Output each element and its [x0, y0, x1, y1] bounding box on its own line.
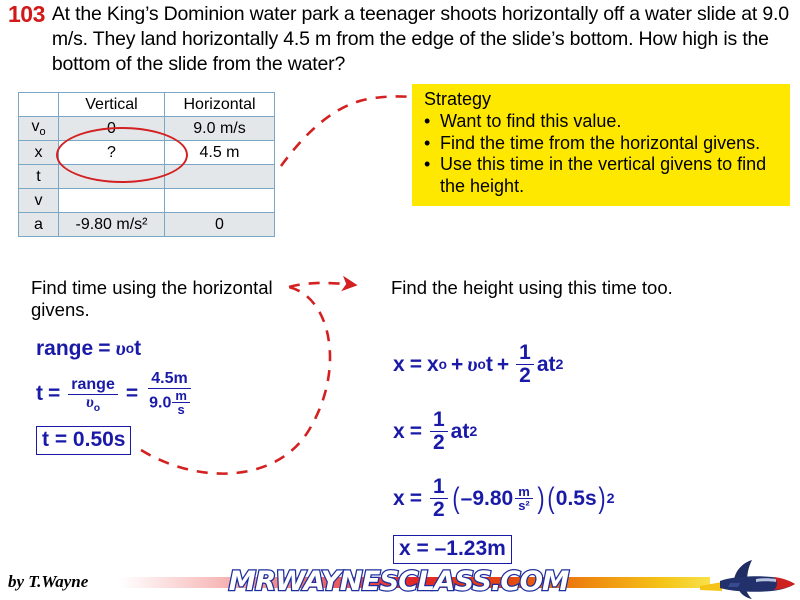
cell-t-horizontal — [165, 165, 275, 189]
equals-sign: = — [410, 487, 422, 511]
left-math-block: range = υo t t = range υo = 4.5m 9.0ms t… — [36, 336, 326, 455]
row-label-a: a — [19, 213, 59, 237]
strategy-item-label: Find the time from the horizontal givens… — [440, 133, 782, 155]
t-symbol: t — [134, 337, 141, 361]
rocket-icon — [700, 558, 798, 600]
cell-a-vertical: -9.80 m/s² — [59, 213, 165, 237]
t-symbol: t — [36, 382, 43, 406]
equation-kinematic-general: x = xo + υot + 1 2 at2 — [393, 342, 723, 387]
unit-m-per-s2: m s² — [515, 485, 533, 513]
fraction-denominator: 9.0ms — [146, 389, 193, 417]
table-header-vertical: Vertical — [59, 93, 165, 117]
bullet-icon: • — [424, 154, 440, 176]
strategy-box: Strategy • Want to find this value. • Fi… — [412, 84, 790, 206]
x0-symbol: x — [427, 353, 439, 377]
strategy-item: • Want to find this value. — [424, 111, 782, 133]
range-label: range — [36, 337, 93, 361]
at-term: at — [451, 420, 470, 444]
strategy-item-label: Want to find this value. — [440, 111, 782, 133]
bullet-icon: • — [424, 133, 440, 155]
right-math-block: x = xo + υot + 1 2 at2 x = 1 2 at2 x = 1… — [393, 342, 723, 564]
paren-close: ) — [537, 486, 544, 512]
row-label-x: x — [19, 141, 59, 165]
table-row: v — [19, 189, 275, 213]
row-label-t: t — [19, 165, 59, 189]
fraction-numerator: 4.5m — [148, 371, 190, 389]
equation-range: range = υo t — [36, 336, 326, 361]
cell-t-vertical — [59, 165, 165, 189]
problem-number: 103 — [8, 2, 45, 27]
strategy-title: Strategy — [424, 89, 782, 110]
table-header-horizontal: Horizontal — [165, 93, 275, 117]
table-row: vo 0 9.0 m/s — [19, 117, 275, 141]
footer-author: by T.Wayne — [8, 572, 88, 592]
strategy-item: • Use this time in the vertical givens t… — [424, 154, 782, 197]
x-symbol: x — [393, 353, 405, 377]
kinematics-table: Vertical Horizontal vo 0 9.0 m/s x ? 4.5… — [18, 92, 275, 237]
equals-sign: = — [48, 382, 60, 406]
cell-v-horizontal — [165, 189, 275, 213]
answer-time-row: t = 0.50s — [36, 426, 326, 455]
equals-sign: = — [126, 382, 138, 406]
paren-open: ( — [547, 486, 554, 512]
table-row: x ? 4.5 m — [19, 141, 275, 165]
cell-v-vertical — [59, 189, 165, 213]
row-label-vo: vo — [19, 117, 59, 141]
fraction-one-half: 1 2 — [430, 476, 448, 521]
fraction-denominator: υo — [83, 395, 103, 412]
strategy-item-label: Use this time in the vertical givens to … — [440, 154, 782, 197]
paren-close: ) — [598, 486, 605, 512]
time-value: 0.5s — [556, 487, 597, 511]
fraction-one-half: 1 2 — [430, 409, 448, 454]
table-header-row: Vertical Horizontal — [19, 93, 275, 117]
equals-sign: = — [98, 337, 110, 361]
plus-sign: + — [451, 353, 463, 377]
right-section-caption: Find the height using this time too. — [391, 277, 721, 299]
v-symbol: υ — [115, 336, 125, 361]
cell-x-horizontal: 4.5 m — [165, 141, 275, 165]
problem-statement: At the King’s Dominion water park a teen… — [52, 2, 800, 77]
acceleration-value: –9.80 — [461, 487, 514, 511]
equation-simplified: x = 1 2 at2 — [393, 409, 723, 454]
x-symbol: x — [393, 487, 405, 511]
answer-box-time: t = 0.50s — [36, 426, 131, 455]
equation-solve-time: t = range υo = 4.5m 9.0ms — [36, 371, 326, 417]
plus-sign: + — [497, 353, 509, 377]
at-term: at — [537, 353, 556, 377]
cell-x-vertical: ? — [59, 141, 165, 165]
equals-sign: = — [410, 420, 422, 444]
table-header-blank — [19, 93, 59, 117]
v-symbol: υ — [467, 352, 477, 377]
fraction-range-over-v: range υo — [68, 377, 118, 412]
cell-a-horizontal: 0 — [165, 213, 275, 237]
cell-vo-vertical: 0 — [59, 117, 165, 141]
table-row: t — [19, 165, 275, 189]
fraction-one-half: 1 2 — [516, 342, 534, 387]
fraction-values: 4.5m 9.0ms — [146, 371, 193, 417]
equation-substituted: x = 1 2 ( –9.80 m s² ) ( 0.5s )2 — [393, 476, 723, 521]
x-symbol: x — [393, 420, 405, 444]
table-row: a -9.80 m/s² 0 — [19, 213, 275, 237]
strategy-item: • Find the time from the horizontal give… — [424, 133, 782, 155]
left-section-caption: Find time using the horizontal givens. — [31, 277, 301, 321]
question-block: 103 At the King’s Dominion water park a … — [8, 2, 800, 77]
equals-sign: = — [410, 353, 422, 377]
annotation-arc-to-strategy — [281, 96, 412, 166]
footer-site-logo: MRWAYNESCLASS.COM — [229, 566, 569, 597]
bullet-icon: • — [424, 111, 440, 133]
paren-open: ( — [452, 486, 459, 512]
t-symbol: t — [486, 353, 493, 377]
fraction-numerator: range — [68, 377, 118, 395]
cell-vo-horizontal: 9.0 m/s — [165, 117, 275, 141]
row-label-v: v — [19, 189, 59, 213]
